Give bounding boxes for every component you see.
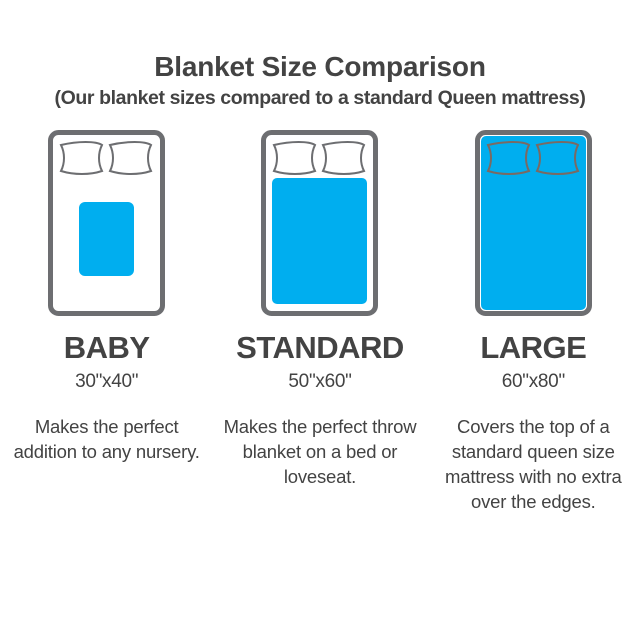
size-description-standard: Makes the perfect throw blanket on a bed…	[222, 415, 418, 490]
size-description-baby: Makes the perfect addition to any nurser…	[9, 415, 205, 465]
blanket-area-large	[481, 136, 586, 310]
blanket-area-standard	[272, 178, 367, 304]
size-name-baby: BABY	[64, 332, 150, 363]
pillow-left-icon	[274, 142, 315, 174]
size-column-large: LARGE 60"x80" Covers the top of a standa…	[427, 130, 640, 515]
page-subtitle: (Our blanket sizes compared to a standar…	[0, 88, 640, 109]
blanket-area-baby	[79, 202, 134, 276]
comparison-columns: BABY 30"x40" Makes the perfect addition …	[0, 130, 640, 515]
size-description-large: Covers the top of a standard queen size …	[435, 415, 631, 515]
size-column-standard: STANDARD 50"x60" Makes the perfect throw…	[213, 130, 426, 515]
pillow-right-icon	[110, 142, 151, 174]
bed-diagram-standard	[261, 130, 378, 316]
size-dimensions-standard: 50"x60"	[288, 372, 351, 391]
size-dimensions-baby: 30"x40"	[75, 372, 138, 391]
header: Blanket Size Comparison (Our blanket siz…	[0, 0, 640, 110]
page-title: Blanket Size Comparison	[0, 52, 640, 82]
bed-diagram-baby	[48, 130, 165, 316]
size-column-baby: BABY 30"x40" Makes the perfect addition …	[0, 130, 213, 515]
pillow-left-icon	[61, 142, 102, 174]
size-name-standard: STANDARD	[236, 332, 404, 363]
size-name-large: LARGE	[480, 332, 586, 363]
pillow-right-icon	[323, 142, 364, 174]
bed-diagram-large	[475, 130, 592, 316]
size-dimensions-large: 60"x80"	[502, 372, 565, 391]
